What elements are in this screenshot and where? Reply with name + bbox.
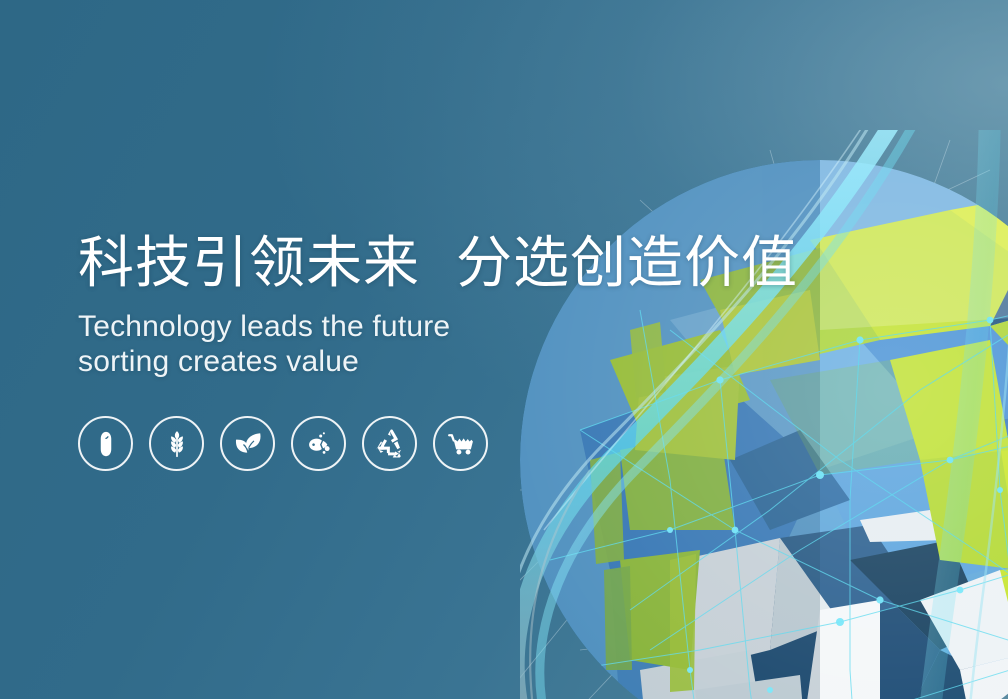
hero-subtitle: Technology leads the future sorting crea…	[78, 309, 778, 380]
rice-grain-icon	[91, 429, 121, 459]
icon-badge-recycle[interactable]	[362, 416, 417, 471]
industry-icon-row	[78, 416, 488, 471]
subtitle-line-1: Technology leads the future	[78, 309, 778, 344]
fish-icon	[304, 429, 334, 459]
headline-part-2: 分选创造价值	[456, 231, 798, 294]
icon-badge-leaves[interactable]	[220, 416, 275, 471]
leaves-icon	[233, 429, 263, 459]
subtitle-line-2: sorting creates value	[78, 344, 778, 379]
mining-cart-icon	[446, 429, 476, 459]
wheat-stalk-icon	[162, 429, 192, 459]
icon-badge-mining-cart[interactable]	[433, 416, 488, 471]
headline-part-1: 科技引领未来	[78, 231, 420, 294]
icon-badge-rice-grain[interactable]	[78, 416, 133, 471]
low-poly-globe	[520, 130, 1008, 699]
hero-copy: 科技引领未来分选创造价值 Technology leads the future…	[78, 232, 778, 380]
icon-badge-fish[interactable]	[291, 416, 346, 471]
icon-badge-wheat[interactable]	[149, 416, 204, 471]
hero-banner: 科技引领未来分选创造价值 Technology leads the future…	[0, 0, 1008, 699]
page-title: 科技引领未来分选创造价值	[78, 232, 778, 295]
recycle-icon	[375, 429, 405, 459]
